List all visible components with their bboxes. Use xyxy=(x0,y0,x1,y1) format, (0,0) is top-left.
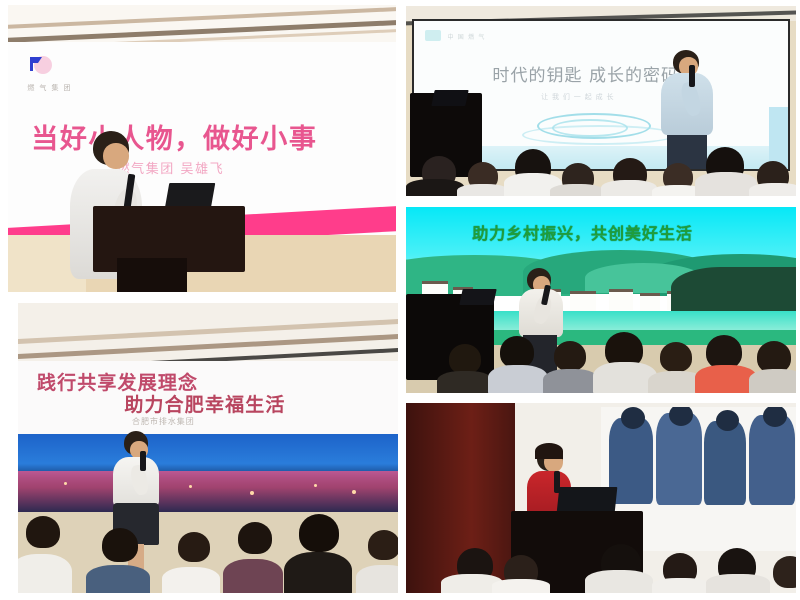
audience-body xyxy=(749,369,796,393)
audience-body xyxy=(488,365,548,393)
uniformed-person xyxy=(704,421,746,505)
speaker-hair xyxy=(535,443,563,459)
audience-body xyxy=(706,574,770,593)
audience-row xyxy=(406,319,796,393)
audience-head xyxy=(773,556,796,588)
laptop xyxy=(557,487,618,513)
audience-row xyxy=(406,135,796,196)
audience-body xyxy=(356,565,398,593)
audience-body xyxy=(601,180,657,196)
photo-collage: 燃 气 集 团 当好小人物，做好小事 燃气集团 吴雄飞 xyxy=(0,0,800,600)
photo-panel-right-middle[interactable]: 助力乡村振兴，共创美好生活 xyxy=(406,207,796,393)
audience-body xyxy=(585,570,653,593)
audience-head xyxy=(178,532,210,562)
audience-row xyxy=(406,525,796,593)
photo-panel-bottom-right[interactable] xyxy=(406,403,796,593)
village-house xyxy=(640,293,660,311)
audience-head xyxy=(449,344,481,374)
audience-body xyxy=(543,369,599,393)
village-house xyxy=(570,291,596,311)
laptop xyxy=(459,289,496,305)
audience-body xyxy=(492,579,550,593)
audience-body xyxy=(284,552,352,593)
audience-body xyxy=(695,365,757,393)
slide-logo-text: 燃 气 集 团 xyxy=(27,83,71,93)
audience-body xyxy=(437,371,493,393)
audience-body xyxy=(162,567,220,593)
slide-title: 助力乡村振兴，共创美好生活 xyxy=(472,220,692,244)
audience-body xyxy=(457,184,509,196)
audience-body xyxy=(695,172,757,196)
audience-head xyxy=(706,335,742,369)
podium-base xyxy=(117,258,187,292)
city-light xyxy=(64,482,67,485)
audience-head xyxy=(757,341,791,373)
audience-head xyxy=(660,342,692,372)
uniformed-person-head xyxy=(621,407,645,429)
slide-logo-icon xyxy=(27,54,53,76)
audience-head xyxy=(26,516,60,548)
audience-body xyxy=(223,559,283,593)
village-house xyxy=(609,289,633,310)
photo-panel-top-left[interactable]: 燃 气 集 团 当好小人物，做好小事 燃气集团 吴雄飞 xyxy=(8,5,396,292)
photo-panel-top-right[interactable]: 中 国 燃 气 时代的钥匙 成长的密码 让 我 们 一 起 成 长 xyxy=(406,6,796,196)
audience-body xyxy=(749,183,796,196)
audience-body xyxy=(18,554,72,593)
uniformed-person-head xyxy=(716,410,739,431)
audience-head xyxy=(554,341,586,371)
microphone xyxy=(140,451,146,471)
audience-head xyxy=(299,514,339,552)
uniformed-person xyxy=(749,415,795,505)
slide-title: 时代的钥匙 成长的密码 xyxy=(492,61,679,86)
audience-head xyxy=(500,336,534,368)
audience-head xyxy=(102,528,138,562)
audience-body xyxy=(86,565,150,593)
photo-panel-bottom-left[interactable]: 践行共享发展理念 助力合肥幸福生活 合肥市排水集团 xyxy=(18,303,398,593)
audience-body xyxy=(652,578,710,593)
laptop xyxy=(432,90,469,106)
slide-subtitle: 合肥市排水集团 xyxy=(132,416,195,427)
audience-head xyxy=(368,530,398,560)
slide-title-line2: 助力合肥幸福生活 xyxy=(124,390,285,417)
audience-row xyxy=(18,494,398,593)
projection-slide: 践行共享发展理念 助力合肥幸福生活 合肥市排水集团 xyxy=(18,361,398,434)
uniformed-person xyxy=(656,413,702,505)
slide-logo-icon xyxy=(425,30,441,41)
audience-head xyxy=(238,522,272,554)
slide-logo-text: 中 国 燃 气 xyxy=(447,32,485,41)
microphone xyxy=(689,65,695,87)
speaker-face xyxy=(103,143,129,169)
slide-title: 当好小人物，做好小事 xyxy=(31,117,317,156)
slide-secondary-text: 让 我 们 一 起 成 长 xyxy=(541,92,614,102)
audience-body xyxy=(406,179,464,196)
audience-body xyxy=(550,184,604,196)
